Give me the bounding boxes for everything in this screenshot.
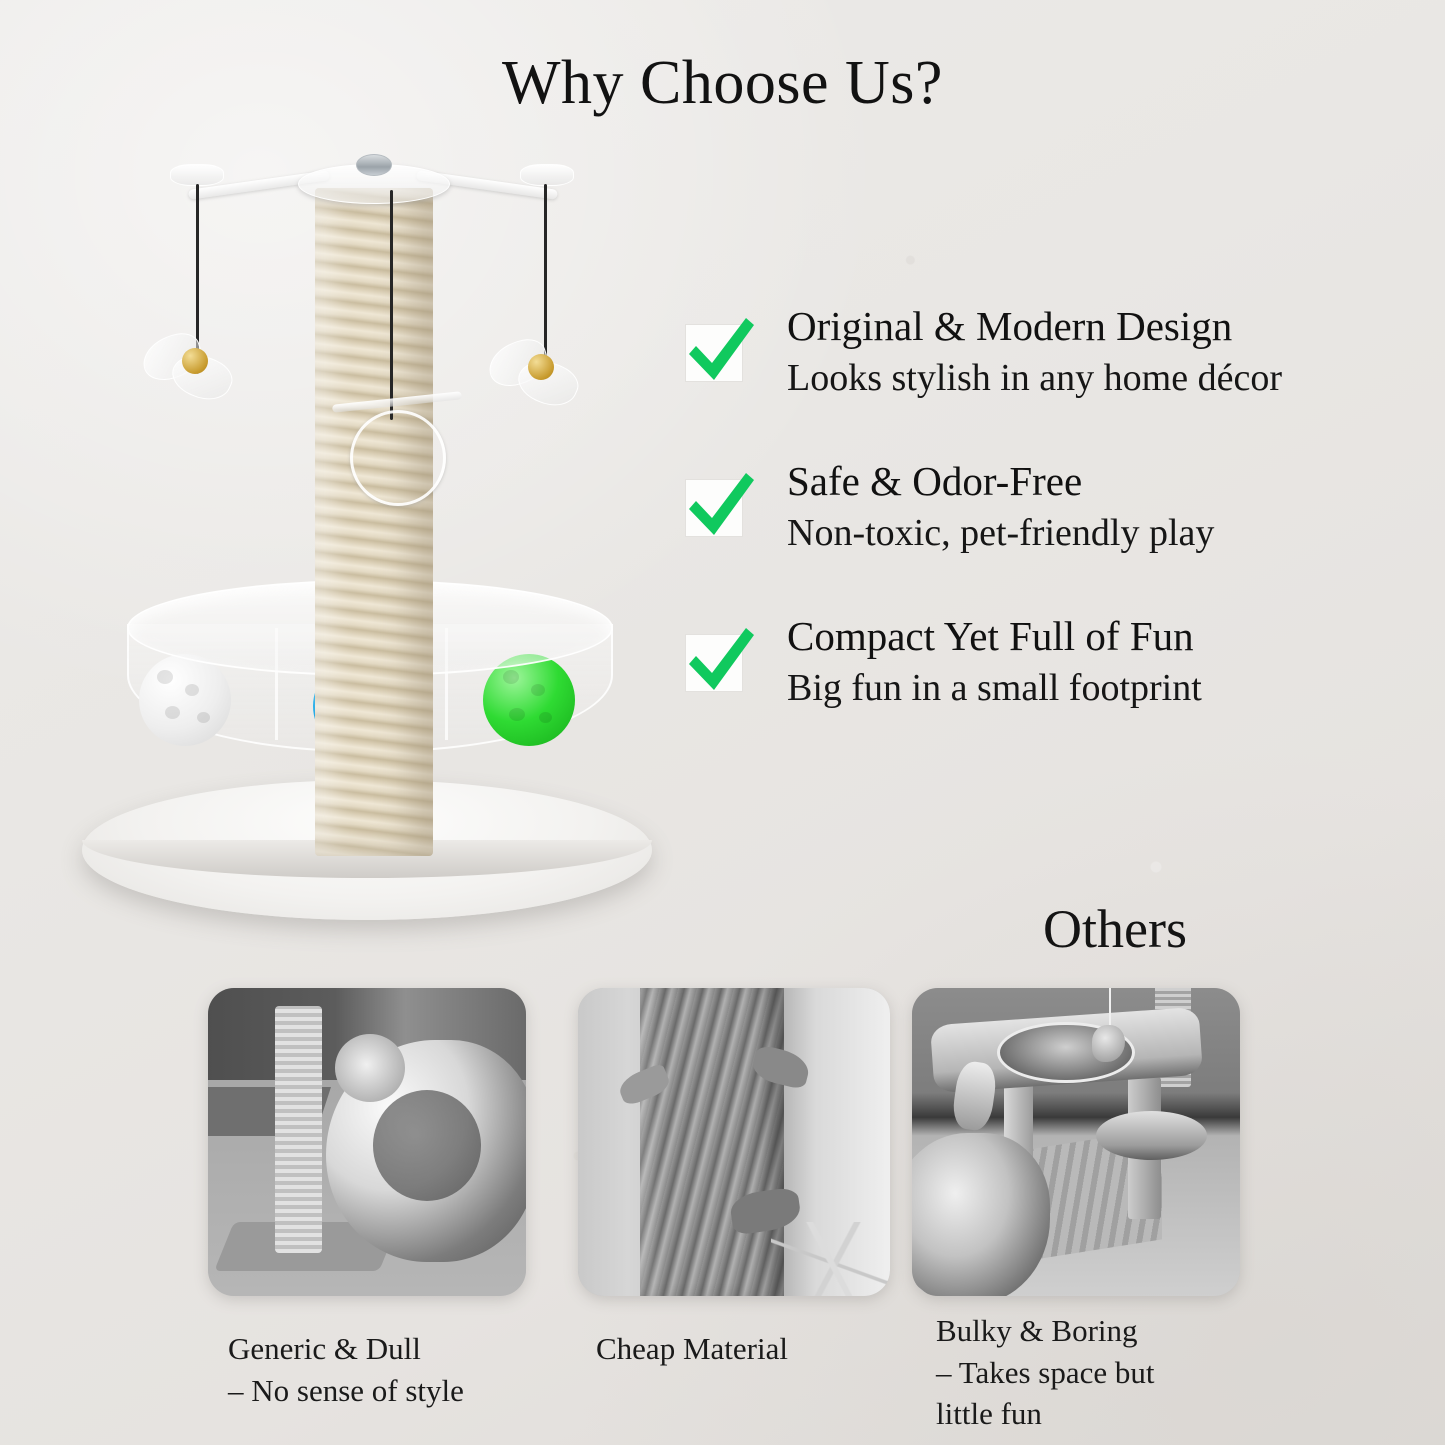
others-photo-generic-dull (208, 988, 526, 1296)
bell-icon (528, 354, 554, 380)
metal-bolt-icon (356, 154, 392, 176)
benefit-subtext: Looks stylish in any home décor (787, 354, 1282, 403)
benefit-item: Original & Modern Design Looks stylish i… (683, 300, 1423, 403)
caption-line: little fun (936, 1393, 1155, 1435)
others-photo-bulky-boring (912, 988, 1240, 1296)
green-check-icon (683, 626, 757, 700)
benefit-heading: Original & Modern Design (787, 302, 1282, 350)
caption-line: – Takes space but (936, 1352, 1155, 1394)
benefit-item: Compact Yet Full of Fun Big fun in a sma… (683, 610, 1423, 713)
others-caption-bulky-boring: Bulky & Boring – Takes space but little … (936, 1310, 1155, 1435)
benefit-heading: Safe & Odor-Free (787, 457, 1214, 505)
benefits-list: Original & Modern Design Looks stylish i… (683, 300, 1423, 713)
acrylic-arm-cap-left (170, 164, 224, 186)
caption-line: – No sense of style (228, 1370, 464, 1412)
sisal-rope-post (315, 188, 433, 856)
others-photo-cheap-material (578, 988, 890, 1296)
benefit-subtext: Non-toxic, pet-friendly play (787, 509, 1214, 558)
benefit-item: Safe & Odor-Free Non-toxic, pet-friendly… (683, 455, 1423, 558)
bell-icon (182, 348, 208, 374)
toy-string-center (390, 190, 393, 420)
benefit-heading: Compact Yet Full of Fun (787, 612, 1202, 660)
butterfly-toy-right (488, 336, 598, 414)
caption-line: Bulky & Boring (936, 1310, 1155, 1352)
page-title: Why Choose Us? (0, 48, 1445, 119)
green-check-icon (683, 316, 757, 390)
acrylic-arm-cap-right (520, 164, 574, 186)
others-caption-cheap-material: Cheap Material (596, 1328, 788, 1370)
caption-line: Cheap Material (596, 1328, 788, 1370)
hero-product-image (60, 140, 680, 930)
acrylic-ring-toy (350, 410, 446, 506)
toy-ball-white (139, 654, 231, 746)
green-check-icon (683, 471, 757, 545)
butterfly-toy-left (142, 330, 252, 408)
benefit-subtext: Big fun in a small footprint (787, 664, 1202, 713)
caption-line: Generic & Dull (228, 1328, 464, 1370)
others-caption-generic-dull: Generic & Dull – No sense of style (228, 1328, 464, 1411)
others-title: Others (905, 898, 1325, 960)
